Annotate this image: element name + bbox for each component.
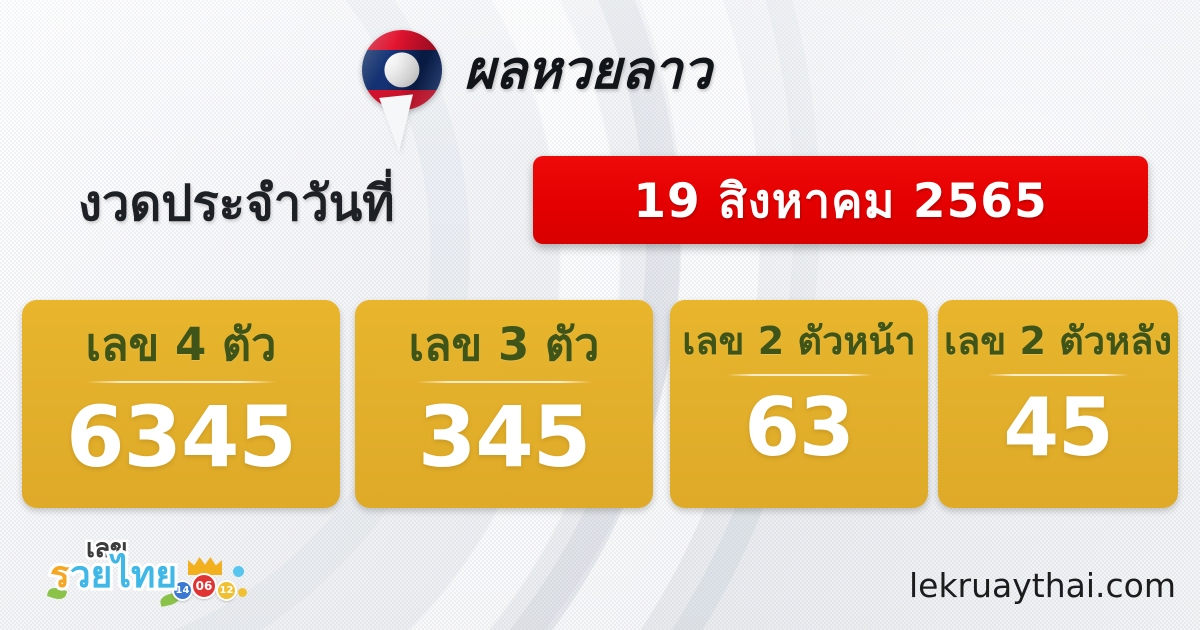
result-card-divider [417,381,592,383]
result-card-3-digit: เลข 3 ตัว 345 [355,300,653,508]
result-card-divider [86,381,276,383]
results-card-group: เลข 4 ตัว 6345 เลข 3 ตัว 345 เลข 2 ตัวหน… [0,300,1200,510]
brand-logo-line-2: รวยไทย [50,556,177,593]
site-url: lekruaythai.com [909,566,1176,605]
lottery-ball-icon: 06 [191,573,217,599]
draw-date-value: 19 สิงหาคม 2565 [633,163,1047,238]
draw-date-label: งวดประจำวันที่ [78,164,395,242]
result-card-label: เลข 2 ตัวหลัง [944,322,1172,360]
result-card-2-digit-back: เลข 2 ตัวหลัง 45 [938,300,1178,508]
result-card-number: 345 [418,395,590,479]
bubble-decoration-icon [238,588,247,597]
flag-pin-tail [379,94,419,153]
draw-date-row: งวดประจำวันที่ 19 สิงหาคม 2565 [0,150,1200,260]
draw-date-banner: 19 สิงหาคม 2565 [533,156,1148,244]
lottery-ball-icon: 12 [216,580,237,601]
brand-logo[interactable]: 14 06 12 เลข รวยไทย [28,536,224,608]
result-card-divider [987,374,1129,376]
result-card-number: 6345 [66,395,296,479]
page-header: ผลหวยลาว [362,30,711,110]
page-title: ผลหวยลาว [464,44,711,97]
result-card-label: เลข 4 ตัว [86,322,277,367]
brand-logo-money-char: ร [50,553,70,596]
result-card-2-digit-front: เลข 2 ตัวหน้า 63 [670,300,928,508]
result-card-divider [727,374,872,376]
bubble-decoration-icon [233,566,244,577]
content-layer: ผลหวยลาว งวดประจำวันที่ 19 สิงหาคม 2565 … [0,0,1200,630]
brand-logo-thai-text: วยไทย [70,553,177,596]
result-card-4-digit: เลข 4 ตัว 6345 [22,300,340,508]
result-card-number: 45 [1003,388,1112,468]
result-card-label: เลข 3 ตัว [409,322,600,367]
result-card-label: เลข 2 ตัวหน้า [682,322,916,360]
result-card-number: 63 [744,388,853,468]
